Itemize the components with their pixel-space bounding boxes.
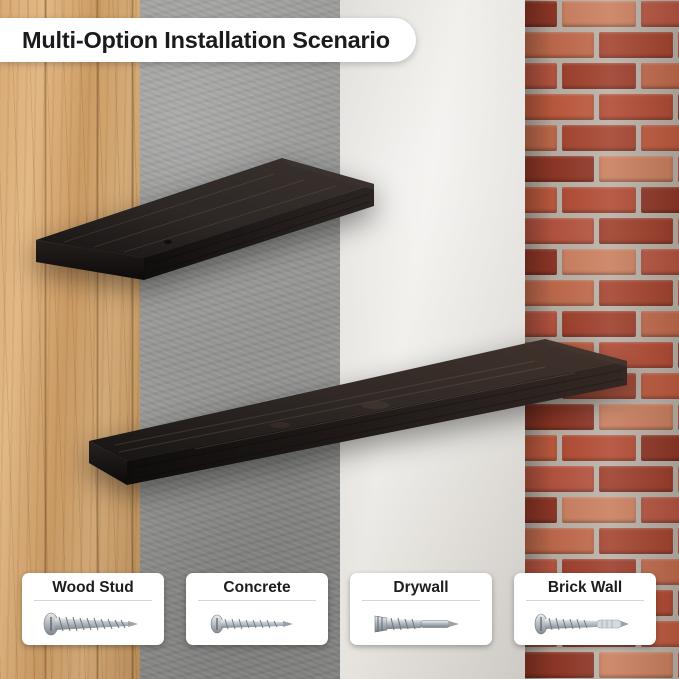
hardware-cards: Wood Stud (0, 573, 679, 645)
card-brick-wall[interactable]: Brick Wall (514, 573, 656, 645)
card-label: Wood Stud (52, 579, 134, 596)
brick (525, 497, 557, 523)
brick (599, 32, 673, 58)
brick (562, 63, 636, 89)
brick (525, 280, 594, 306)
brick (599, 528, 673, 554)
drywall-toggle-anchor-icon (350, 603, 492, 645)
brick (525, 1, 557, 27)
card-label: Brick Wall (548, 579, 622, 596)
brick (562, 249, 636, 275)
brick (641, 435, 679, 461)
brick (641, 63, 679, 89)
brick (641, 125, 679, 151)
brick (641, 373, 679, 399)
brick (599, 652, 673, 678)
card-divider (526, 600, 644, 601)
brick (562, 497, 636, 523)
brick (562, 125, 636, 151)
brick (562, 187, 636, 213)
brick (525, 94, 594, 120)
brick (525, 652, 594, 678)
card-wood-stud[interactable]: Wood Stud (22, 573, 164, 645)
card-divider (362, 600, 480, 601)
brick (525, 63, 557, 89)
brick (641, 249, 679, 275)
brick (525, 249, 557, 275)
brick (525, 156, 594, 182)
brick (562, 1, 636, 27)
title-banner: Multi-Option Installation Scenario (0, 18, 416, 62)
brick (599, 280, 673, 306)
card-divider (34, 600, 152, 601)
brick (525, 32, 594, 58)
brick (525, 218, 594, 244)
card-label: Drywall (393, 579, 448, 596)
brick (641, 311, 679, 337)
brick (525, 187, 557, 213)
brick (525, 528, 594, 554)
product-infographic: Multi-Option Installation Scenario Wood … (0, 0, 679, 679)
wood-screw-icon (22, 603, 164, 645)
brick (641, 1, 679, 27)
card-label: Concrete (223, 579, 290, 596)
brick (641, 497, 679, 523)
brick-screw-plug-icon (514, 603, 656, 645)
card-drywall[interactable]: Drywall (350, 573, 492, 645)
brick (599, 94, 673, 120)
card-concrete[interactable]: Concrete (186, 573, 328, 645)
concrete-screw-anchor-icon (186, 603, 328, 645)
lower-shelf (75, 333, 635, 488)
card-divider (198, 600, 316, 601)
brick (525, 125, 557, 151)
brick (599, 156, 673, 182)
brick (599, 218, 673, 244)
brick (641, 187, 679, 213)
upper-shelf (24, 150, 394, 295)
page-title: Multi-Option Installation Scenario (22, 27, 390, 54)
